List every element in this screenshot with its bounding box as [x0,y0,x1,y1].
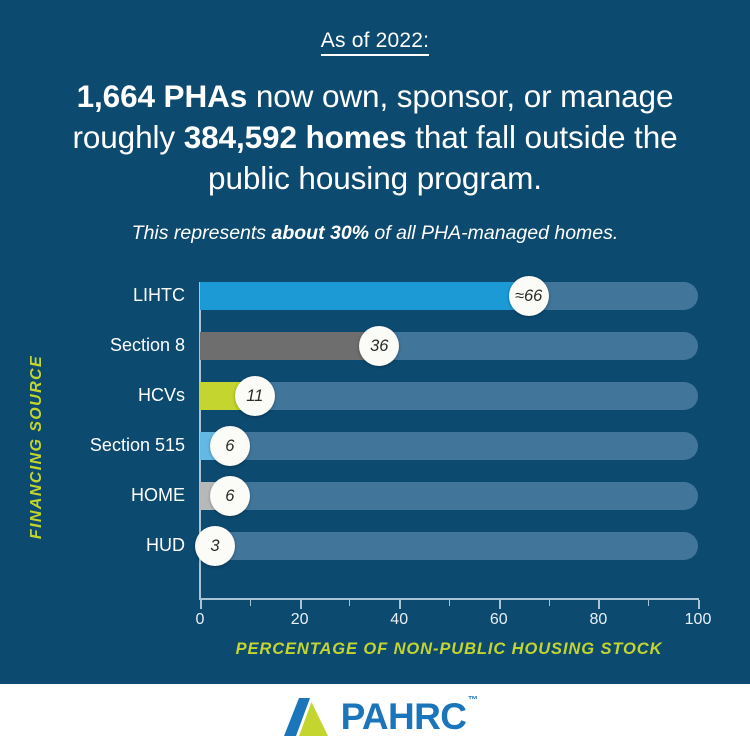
value-bubble: 3 [195,526,235,566]
text-run-2: of all PHA-managed homes. [369,222,618,244]
x-tick-minor [549,600,550,606]
bar-value[interactable] [200,282,529,310]
eyebrow-text: As of 2022: [0,29,750,53]
pahrc-logo[interactable]: PAHRC ™ [284,696,467,738]
x-tick-minor [250,600,251,606]
x-tick-major [698,600,700,609]
category-label-hcvs: HCVs [0,385,185,406]
x-tick-label: 60 [490,611,508,629]
category-label-hud: HUD [0,535,185,556]
value-bubble: 36 [359,326,399,366]
category-label-home: HOME [0,485,185,506]
subheadline: This represents about 30% of all PHA-man… [35,222,715,245]
emphasis-run-0: 1,664 PHAs [77,78,248,114]
eyebrow-underlined: As of 2022: [321,29,429,56]
bar-row: HUD3 [0,532,750,560]
x-tick-label: 0 [196,611,205,629]
bar-track [200,532,698,560]
infographic-canvas: As of 2022: 1,664 PHAs now own, sponsor,… [0,0,750,750]
bar-row: HOME6 [0,482,750,510]
emphasis-run-2: 384,592 homes [184,119,407,155]
text-run-0: This represents [132,222,272,244]
pahrc-chevron-mark [284,696,332,738]
x-tick-label: 80 [589,611,607,629]
bar-row: Section 5156 [0,432,750,460]
value-bubble: ≈66 [509,276,549,316]
x-tick-major [300,600,302,609]
x-tick-minor [449,600,450,606]
bar-value[interactable] [200,332,379,360]
pahrc-wordmark: PAHRC ™ [341,696,467,738]
x-tick-label: 40 [390,611,408,629]
x-tick-major [499,600,501,609]
x-tick-major [399,600,401,609]
x-tick-minor [349,600,350,606]
value-bubble: 6 [210,476,250,516]
value-bubble: 11 [235,376,275,416]
x-tick-minor [648,600,649,606]
x-tick-label: 20 [291,611,309,629]
x-axis-title: PERCENTAGE OF NON-PUBLIC HOUSING STOCK [200,640,698,659]
x-tick-label: 100 [685,611,712,629]
category-label-section-8: Section 8 [0,335,185,356]
bar-track [200,432,698,460]
headline: 1,664 PHAs now own, sponsor, or manage r… [35,76,715,199]
value-bubble: 6 [210,426,250,466]
trademark-icon: ™ [468,695,477,706]
bar-row: Section 836 [0,332,750,360]
category-label-lihtc: LIHTC [0,285,185,306]
footer-bar: PAHRC ™ [0,684,750,750]
bar-row: HCVs11 [0,382,750,410]
category-label-section-515: Section 515 [0,435,185,456]
x-tick-major [598,600,600,609]
bar-row: LIHTC≈66 [0,282,750,310]
pahrc-wordmark-text: PAHRC [341,696,467,737]
bar-track [200,482,698,510]
bar-chart: FINANCING SOURCE LIHTC≈66Section 836HCVs… [0,278,750,673]
x-tick-major [200,600,202,609]
emphasis-run-1: about 30% [271,222,369,244]
